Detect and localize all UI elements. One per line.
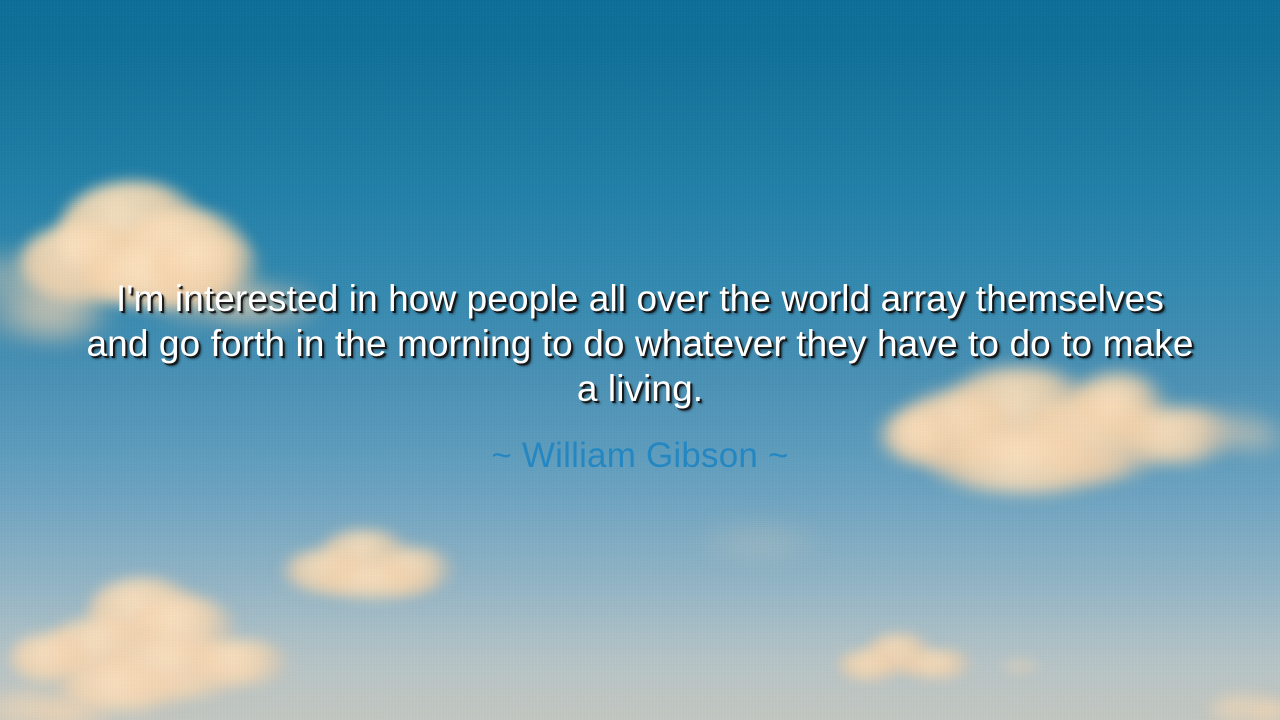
quote-text-layer: I'm interested in how people all over th… bbox=[0, 0, 1280, 720]
quote-body-text: I'm interested in how people all over th… bbox=[80, 276, 1200, 411]
quote-card: I'm interested in how people all over th… bbox=[0, 0, 1280, 720]
quote-attribution: ~ William Gibson ~ bbox=[491, 435, 788, 477]
